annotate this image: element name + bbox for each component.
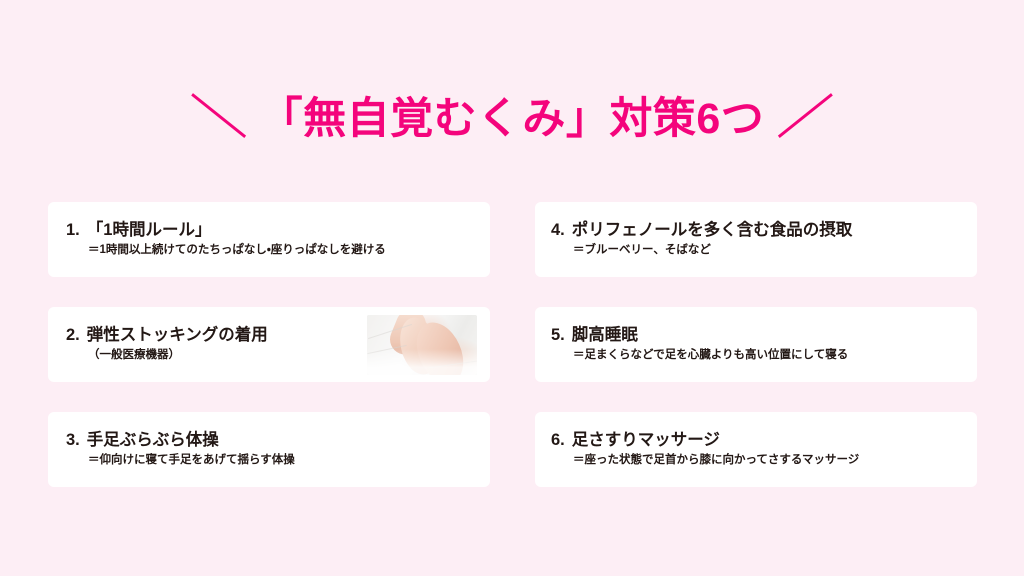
measure-card-5-number: 5. <box>551 326 565 345</box>
measure-card-2-title: 弾性ストッキングの着用 <box>87 326 268 345</box>
measure-card-3-subtitle: ＝仰向けに寝て手足をあげて揺らす体操 <box>88 454 490 468</box>
measure-card-5-subtitle: ＝足まくらなどで足を心臓よりも高い位置にして寝る <box>573 349 977 363</box>
measure-card-1-number: 1. <box>66 221 80 240</box>
measure-card-1-heading: 1. 「1時間ルール」 <box>66 221 490 240</box>
measure-card-1-title: 「1時間ルール」 <box>87 221 212 240</box>
measure-card-5-title: 脚高睡眠 <box>572 326 638 345</box>
measure-card-2: 2. 弾性ストッキングの着用 （一般医療機器） <box>48 307 490 382</box>
measure-card-1-subtitle: ＝1時間以上続けてのたちっぱなし・座りっぱなしを避ける <box>88 244 490 258</box>
measure-card-6-title: 足さすりマッサージ <box>572 431 720 450</box>
title-slash-left-icon: ＼ <box>190 94 247 140</box>
measure-card-1: 1. 「1時間ルール」 ＝1時間以上続けてのたちっぱなし・座りっぱなしを避ける <box>48 202 490 277</box>
measures-grid: 1. 「1時間ルール」 ＝1時間以上続けてのたちっぱなし・座りっぱなしを避ける … <box>48 202 977 488</box>
measure-card-4-subtitle: ＝ブルーベリー、そばなど <box>573 244 977 258</box>
measure-card-4-body: 4. ポリフェノールを多く含む食品の摂取 ＝ブルーベリー、そばなど <box>551 221 977 258</box>
measure-card-6-body: 6. 足さすりマッサージ ＝座った状態で足首から膝に向かってさするマッサージ <box>551 431 977 468</box>
title-slash-right-icon: ／ <box>777 94 834 140</box>
measure-card-3: 3. 手足ぶらぶら体操 ＝仰向けに寝て手足をあげて揺らす体操 <box>48 412 490 487</box>
measure-card-3-number: 3. <box>66 431 80 450</box>
measure-card-1-body: 1. 「1時間ルール」 ＝1時間以上続けてのたちっぱなし・座りっぱなしを避ける <box>66 221 490 258</box>
measure-card-6-heading: 6. 足さすりマッサージ <box>551 431 977 450</box>
page-title: ＼ 「無自覚むくみ」対策6つ ／ <box>0 88 1024 150</box>
measure-card-5-heading: 5. 脚高睡眠 <box>551 326 977 345</box>
measure-card-4-number: 4. <box>551 221 565 240</box>
measure-card-4-title: ポリフェノールを多く含む食品の摂取 <box>572 221 853 240</box>
measure-card-4: 4. ポリフェノールを多く含む食品の摂取 ＝ブルーベリー、そばなど <box>535 202 977 277</box>
slide-root: ＼ 「無自覚むくみ」対策6つ ／ 1. 「1時間ルール」 ＝1時間以上続けてのた… <box>0 0 1024 576</box>
measure-card-6: 6. 足さすりマッサージ ＝座った状態で足首から膝に向かってさするマッサージ <box>535 412 977 487</box>
measure-card-3-heading: 3. 手足ぶらぶら体操 <box>66 431 490 450</box>
compression-stockings-photo <box>367 315 477 375</box>
measure-card-2-number: 2. <box>66 326 80 345</box>
measure-card-5-body: 5. 脚高睡眠 ＝足まくらなどで足を心臓よりも高い位置にして寝る <box>551 326 977 363</box>
measure-card-4-heading: 4. ポリフェノールを多く含む食品の摂取 <box>551 221 977 240</box>
measure-card-6-number: 6. <box>551 431 565 450</box>
measure-card-3-title: 手足ぶらぶら体操 <box>87 431 219 450</box>
measure-card-5: 5. 脚高睡眠 ＝足まくらなどで足を心臓よりも高い位置にして寝る <box>535 307 977 382</box>
photo-sheet-highlight <box>367 349 477 375</box>
measure-card-3-body: 3. 手足ぶらぶら体操 ＝仰向けに寝て手足をあげて揺らす体操 <box>66 431 490 468</box>
measure-card-6-subtitle: ＝座った状態で足首から膝に向かってさするマッサージ <box>573 454 977 468</box>
page-title-text: 「無自覚むくみ」対策6つ <box>260 98 765 141</box>
